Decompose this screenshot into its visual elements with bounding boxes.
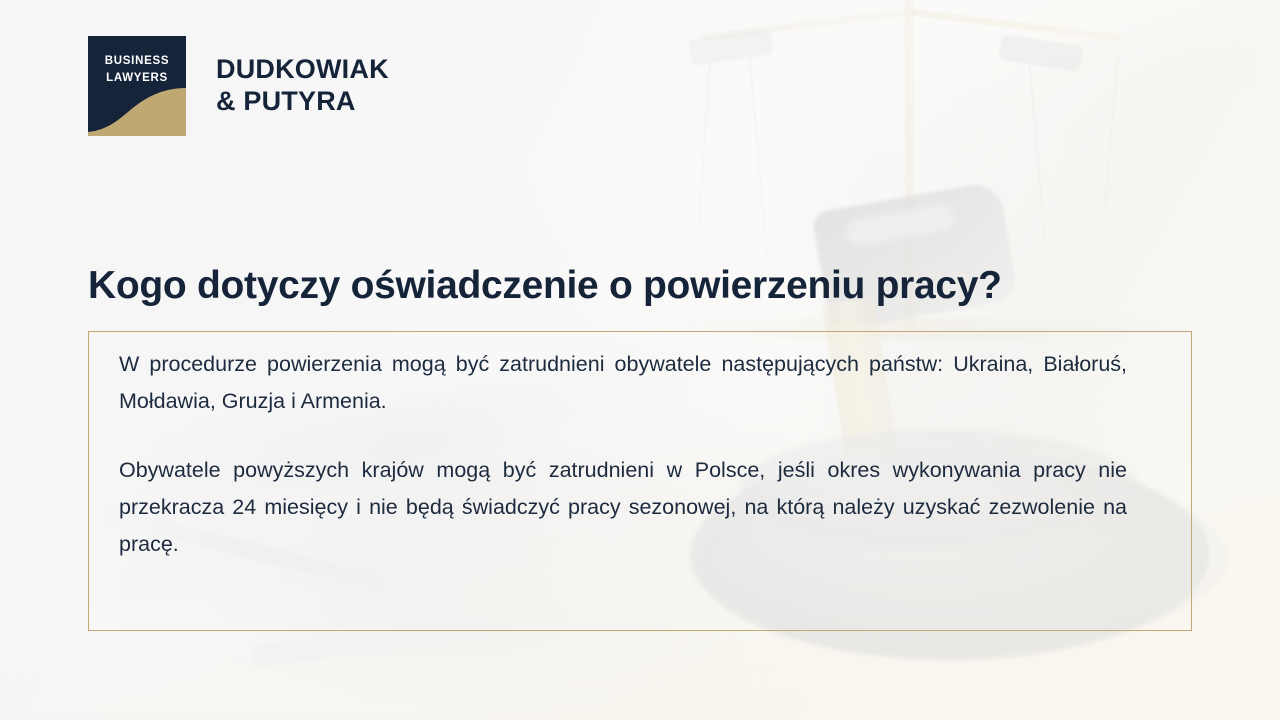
content-body: W procedurze powierzenia mogą być zatrud…: [119, 346, 1127, 600]
paragraph-employment-conditions: Obywatele powyższych krajów mogą być zat…: [119, 452, 1127, 600]
paragraph-eligible-countries: W procedurze powierzenia mogą być zatrud…: [119, 346, 1127, 420]
logo-mark-icon: BUSINESS LAWYERS: [88, 36, 186, 136]
logo-mark-label: BUSINESS LAWYERS: [88, 53, 186, 86]
paragraph-spacer: [119, 420, 1127, 452]
page-title: Kogo dotyczy oświadczenie o powierzeniu …: [88, 265, 1198, 308]
logo-company-name: DUDKOWIAK & PUTYRA: [216, 54, 389, 118]
content-frame: W procedurze powierzenia mogą być zatrud…: [88, 331, 1192, 631]
slide-canvas: BUSINESS LAWYERS DUDKOWIAK & PUTYRA Kogo…: [0, 0, 1280, 720]
brand-logo: BUSINESS LAWYERS DUDKOWIAK & PUTYRA: [88, 36, 389, 136]
